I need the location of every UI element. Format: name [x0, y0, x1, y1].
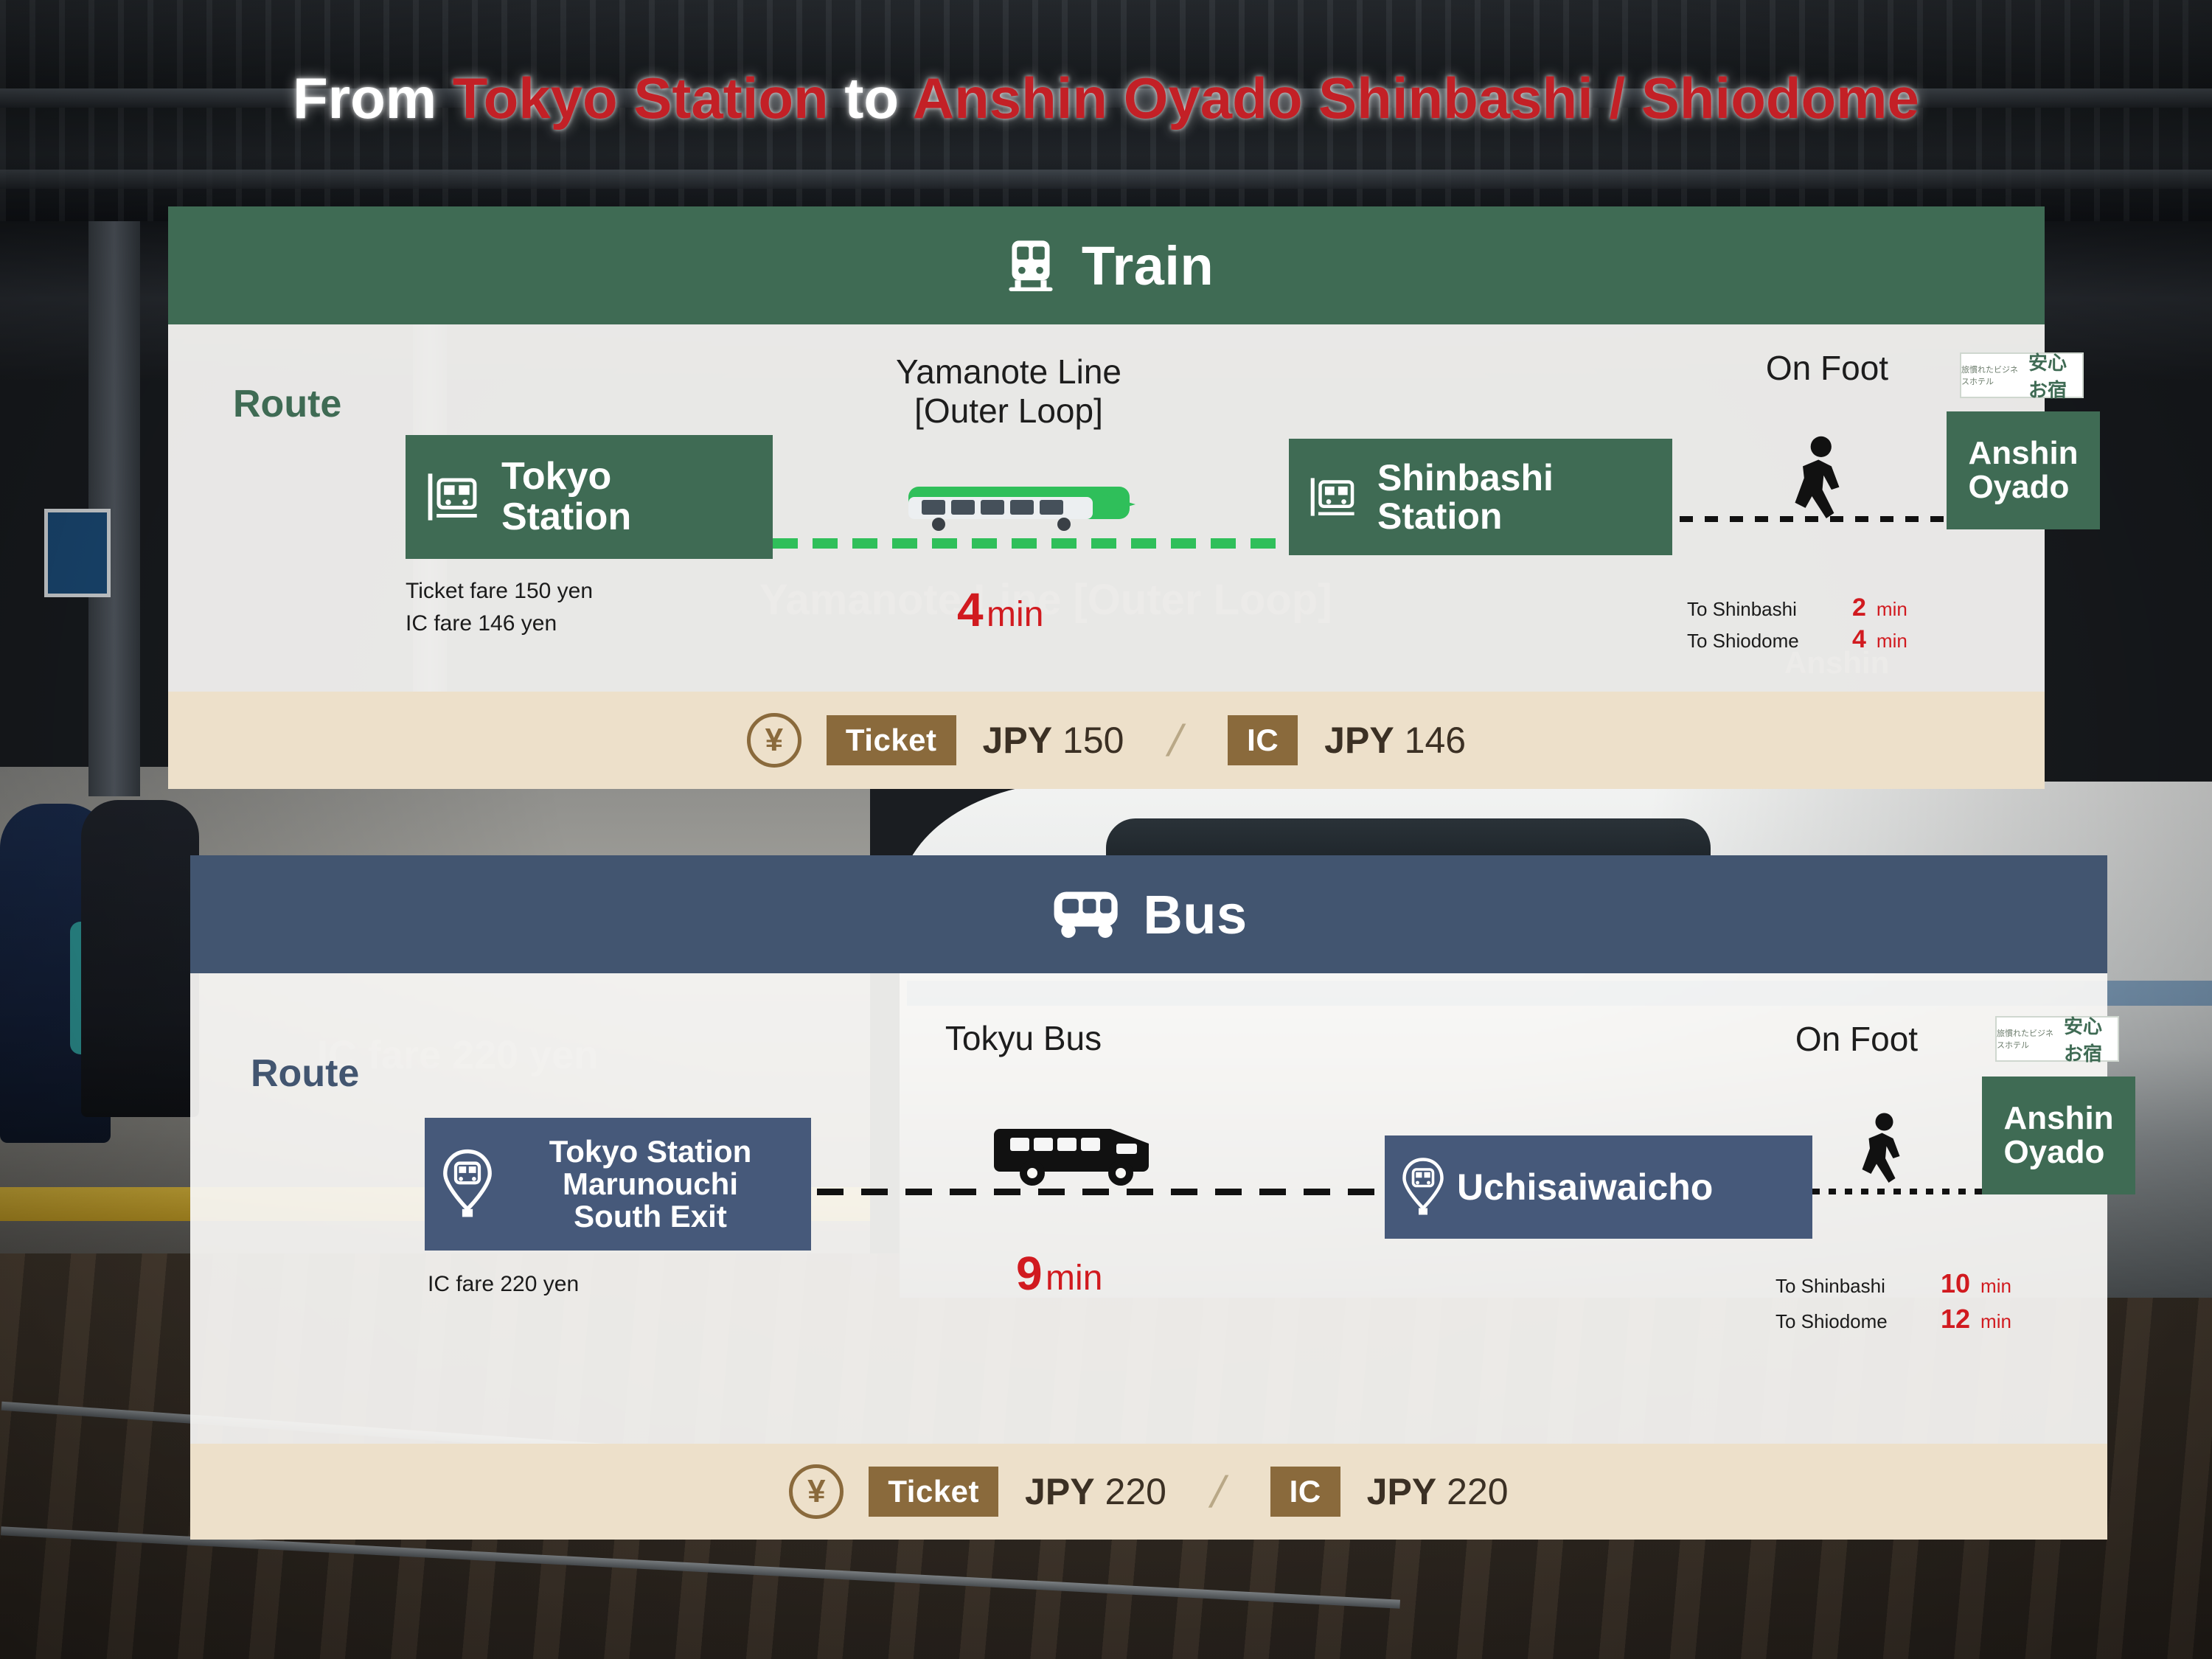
train-ticket-chip: Ticket — [827, 715, 956, 765]
train-fare-bar: ¥ Ticket JPY150 / IC JPY146 — [168, 692, 2045, 789]
train-route-line — [773, 538, 1289, 549]
train-fare-note-2: IC fare 146 yen — [406, 608, 593, 640]
bus-hotel-line2: Oyado — [2003, 1135, 2113, 1169]
title-middle: to — [829, 66, 913, 131]
train-walk-unit-2: min — [1877, 630, 1907, 653]
train-hotel-box: Anshin Oyado — [1947, 411, 2100, 529]
train-ticket-currency: JPY — [983, 720, 1053, 761]
bus-stop-pin-icon — [441, 1149, 494, 1220]
bus-walk-value-2: 12 — [1941, 1304, 1970, 1335]
train-walk-label-2: To Shiodome — [1687, 630, 1842, 653]
train-duration-value: 4 — [957, 583, 984, 636]
train-dest-line2: Station — [1377, 497, 1554, 536]
bus-leg-title: Tokyu Bus — [869, 1019, 1178, 1058]
bus-panel: Bus Route Tokyo Station Marunouchi South… — [190, 855, 2107, 1541]
bus-panel-header: Bus — [190, 855, 2107, 973]
bus-leg-title-line1: Tokyu Bus — [869, 1019, 1178, 1058]
bus-hotel-logo-jp: 安心お宿 — [2064, 1012, 2118, 1066]
train-walk-value-1: 2 — [1852, 594, 1866, 622]
bus-hotel-box: Anshin Oyado — [1982, 1077, 2135, 1194]
bus-walk-row-2: To Shiodome 12 min — [1775, 1304, 2011, 1335]
train-ic-currency: JPY — [1324, 720, 1394, 761]
bus-walk-value-1: 10 — [1941, 1268, 1970, 1299]
train-panel-header: Train — [168, 206, 2045, 324]
bus-dest-line1: Uchisaiwaicho — [1457, 1168, 1713, 1207]
train-hotel-logo-tiny: 旅慣れたビジネスホテル — [1961, 364, 2024, 387]
train-hotel-logo: 旅慣れたビジネスホテル 安心お宿 — [1960, 352, 2084, 398]
train-hotel-line1: Anshin — [1968, 437, 2078, 470]
yen-icon: ¥ — [789, 1464, 844, 1519]
station-icon — [1305, 467, 1366, 527]
bus-hotel-logo: 旅慣れたビジネスホテル 安心お宿 — [1995, 1016, 2119, 1062]
train-origin-line2: Station — [501, 497, 631, 538]
train-fare-notes: Ticket fare 150 yen IC fare 146 yen — [406, 575, 593, 639]
bus-walk-line — [1812, 1189, 1989, 1194]
train-walk-unit-1: min — [1877, 598, 1907, 621]
train-route-label: Route — [233, 382, 341, 426]
bus-walk-row-1: To Shinbashi 10 min — [1775, 1268, 2011, 1299]
bus-panel-title: Bus — [1143, 883, 1247, 946]
train-walk-row-1: To Shinbashi 2 min — [1687, 594, 1907, 622]
bus-side-icon — [994, 1110, 1171, 1191]
page-title: From Tokyo Station to Anshin Oyado Shinb… — [0, 65, 2212, 132]
bus-fare-notes: IC fare 220 yen — [428, 1268, 579, 1301]
bus-onfoot-title: On Foot — [1709, 1019, 2004, 1059]
bus-icon — [1050, 883, 1124, 946]
bus-route-label: Route — [251, 1051, 359, 1096]
bus-origin-line3: South Exit — [506, 1200, 795, 1233]
train-ic-chip: IC — [1228, 715, 1298, 765]
train-dest-line1: Shinbashi — [1377, 459, 1554, 498]
bus-duration-value: 9 — [1016, 1247, 1043, 1300]
title-destination: Anshin Oyado Shinbashi / Shiodome — [913, 66, 1919, 131]
bus-ic-amount: 220 — [1447, 1471, 1508, 1512]
bus-stop-pin-icon — [1401, 1157, 1445, 1217]
train-destination-station: Shinbashi Station — [1289, 439, 1672, 555]
bus-duration-unit: min — [1046, 1259, 1102, 1298]
train-fare-note-1: Ticket fare 150 yen — [406, 575, 593, 608]
train-walk-notes: To Shinbashi 2 min To Shiodome 4 min — [1687, 594, 1907, 654]
bus-origin-line2: Marunouchi — [506, 1168, 795, 1200]
train-onfoot-title: On Foot — [1687, 348, 1967, 388]
title-prefix: From — [293, 66, 453, 131]
train-ic-amount: 146 — [1405, 720, 1466, 761]
bus-hotel-logo-tiny: 旅慣れたビジネスホテル — [1997, 1027, 2059, 1051]
train-duration: 4 min — [957, 582, 1043, 637]
train-origin-line1: Tokyo — [501, 456, 631, 497]
train-duration-unit: min — [987, 595, 1043, 634]
train-leg-title-line1: Yamanote Line — [802, 352, 1215, 392]
bus-walk-label-2: To Shiodome — [1775, 1310, 1930, 1333]
train-hotel-line2: Oyado — [1968, 470, 2078, 504]
bus-walk-label-1: To Shinbashi — [1775, 1275, 1930, 1298]
train-side-icon — [905, 472, 1149, 538]
train-hotel-logo-jp: 安心お宿 — [2028, 348, 2082, 403]
bus-destination-stop: Uchisaiwaicho — [1385, 1135, 1812, 1239]
bus-fare-note-1: IC fare 220 yen — [428, 1268, 579, 1301]
bus-fare-separator: / — [1206, 1467, 1231, 1517]
train-walk-label-1: To Shinbashi — [1687, 598, 1842, 621]
bus-origin-stop: Tokyo Station Marunouchi South Exit — [425, 1118, 811, 1251]
pedestrian-icon — [1787, 435, 1853, 524]
title-from-station: Tokyo Station — [453, 66, 829, 131]
bus-walk-unit-1: min — [1980, 1275, 2011, 1298]
bus-fare-bar: ¥ Ticket JPY220 / IC JPY220 — [190, 1444, 2107, 1540]
bus-ticket-amount: 220 — [1105, 1471, 1166, 1512]
train-leg-title: Yamanote Line [Outer Loop] — [802, 352, 1215, 431]
bus-origin-line1: Tokyo Station — [506, 1135, 795, 1168]
bus-duration: 9 min — [1016, 1246, 1102, 1301]
bus-ticket-currency: JPY — [1025, 1471, 1095, 1512]
train-panel: Train Route Tokyo Station Ticket fare 15 — [168, 206, 2045, 789]
train-icon — [999, 234, 1062, 297]
bus-ic-chip: IC — [1270, 1467, 1340, 1517]
bus-hotel-line1: Anshin — [2003, 1102, 2113, 1135]
bus-walk-notes: To Shinbashi 10 min To Shiodome 12 min — [1775, 1268, 2011, 1335]
train-walk-line — [1680, 516, 1960, 522]
station-icon — [422, 463, 490, 531]
bus-walk-unit-2: min — [1980, 1310, 2011, 1333]
train-yen-symbol: ¥ — [765, 722, 783, 759]
train-walk-row-2: To Shiodome 4 min — [1687, 625, 1907, 654]
yen-icon: ¥ — [747, 713, 801, 768]
train-fare-separator: / — [1164, 715, 1189, 766]
bus-yen-symbol: ¥ — [807, 1473, 825, 1510]
train-ticket-amount: 150 — [1062, 720, 1124, 761]
train-leg-title-line2: [Outer Loop] — [802, 392, 1215, 431]
train-origin-station: Tokyo Station — [406, 435, 773, 559]
bus-ic-currency: JPY — [1367, 1471, 1437, 1512]
train-panel-title: Train — [1082, 234, 1214, 297]
bus-panel-body: Route Tokyo Station Marunouchi South Exi… — [190, 973, 2107, 1444]
train-walk-value-2: 4 — [1852, 625, 1866, 654]
bus-ticket-chip: Ticket — [869, 1467, 998, 1517]
train-panel-body: Route Tokyo Station Ticket fare 150 yen … — [168, 324, 2045, 692]
pedestrian-icon — [1855, 1112, 1911, 1187]
